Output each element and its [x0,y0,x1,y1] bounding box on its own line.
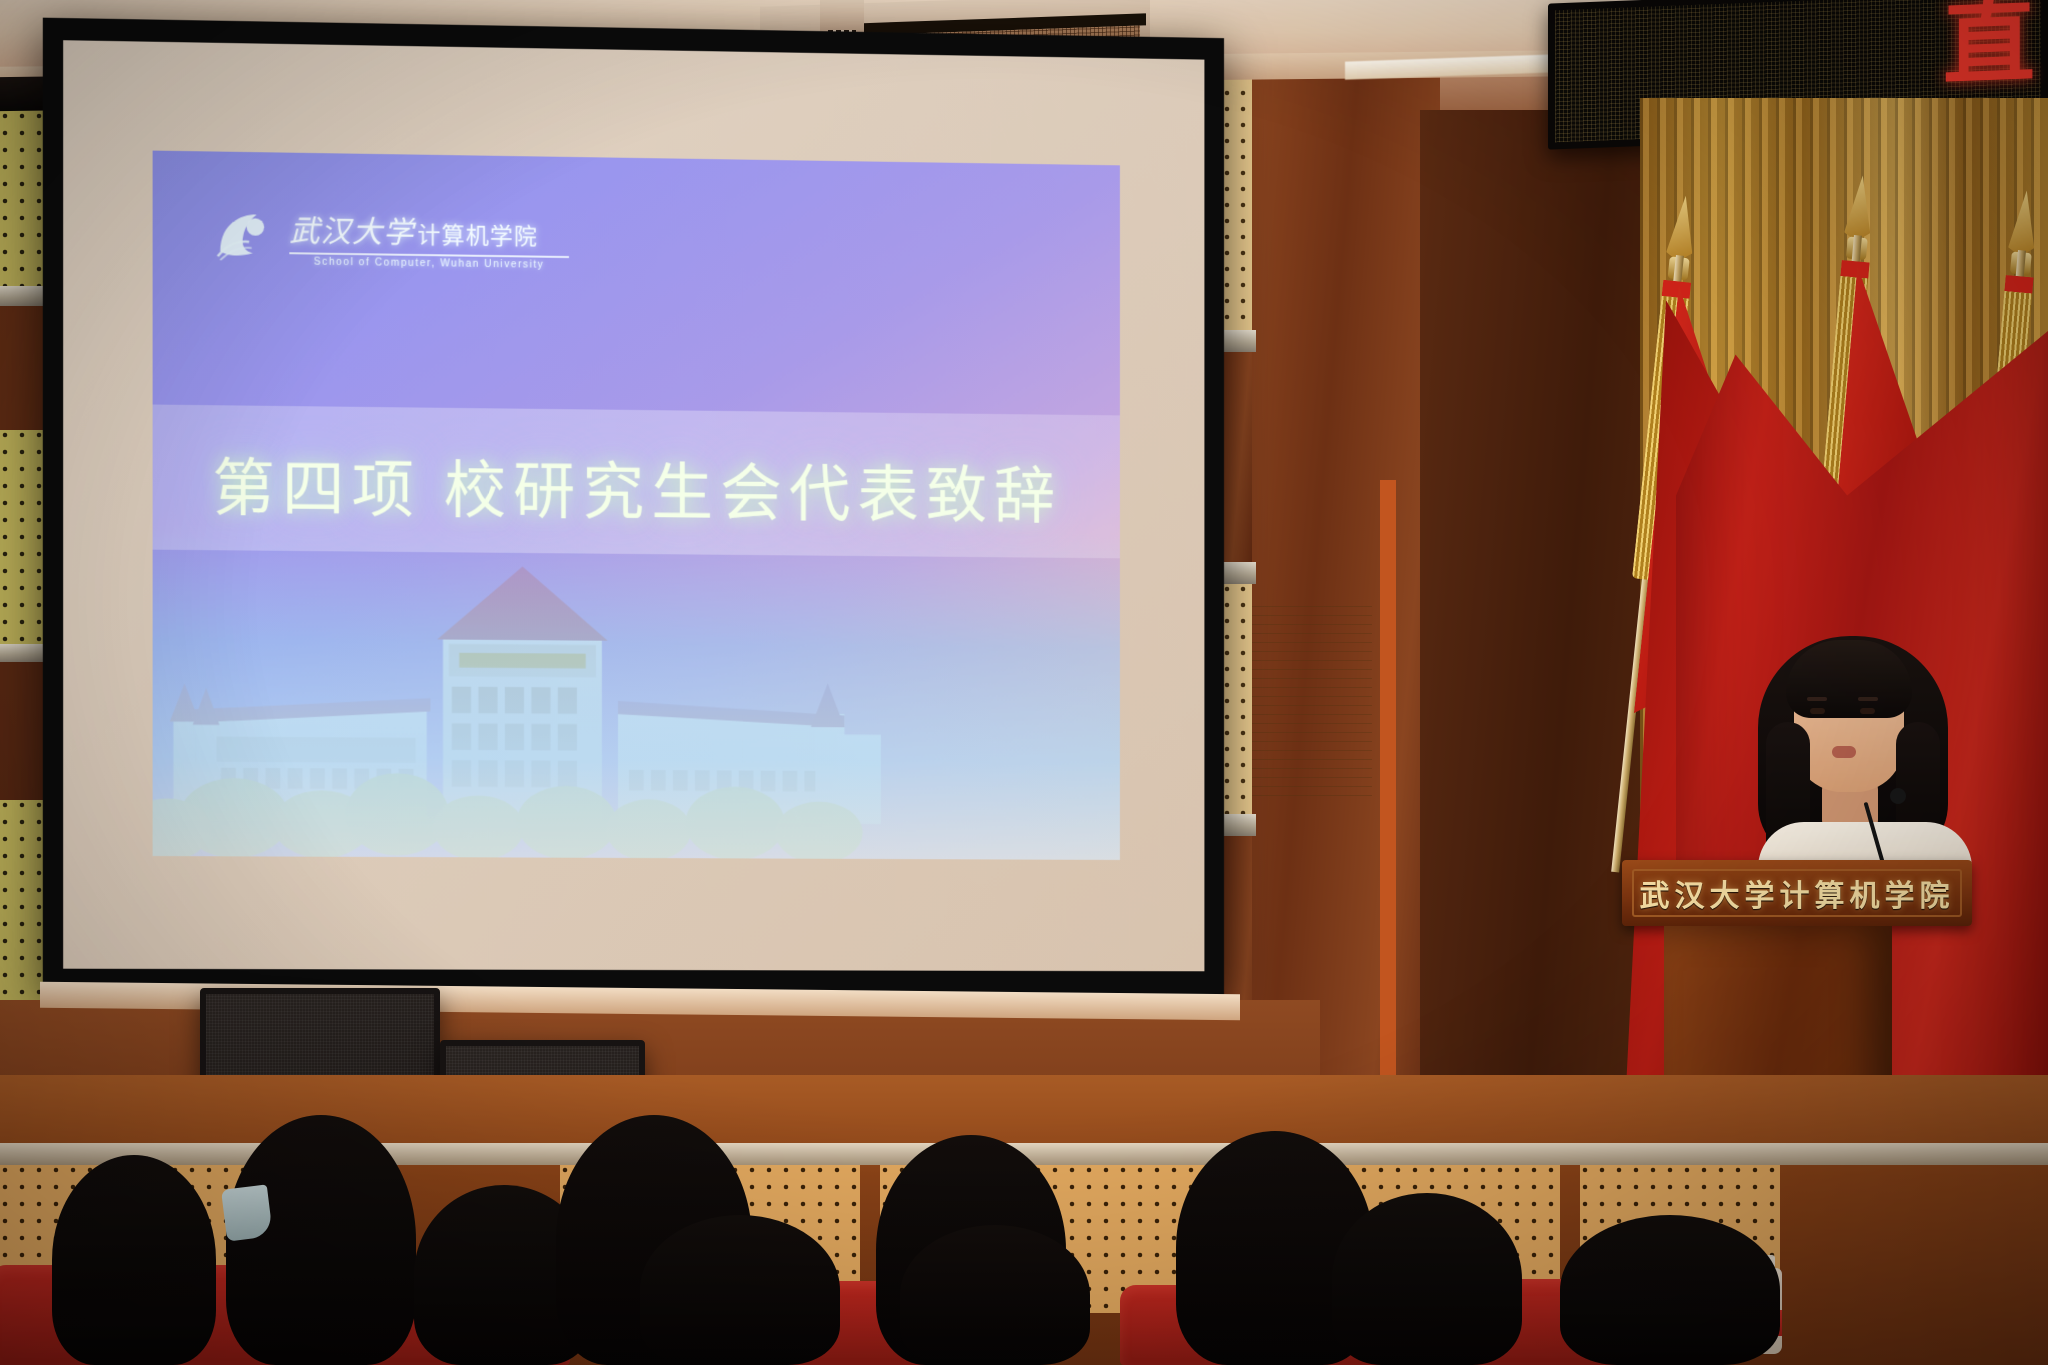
logo-text-block: 武汉大学 计算机学院 School of Computer, Wuhan Uni… [289,205,569,270]
presentation-slide: 武汉大学 计算机学院 School of Computer, Wuhan Uni… [153,151,1120,860]
speaker-eye-right [1860,708,1875,714]
audience-head-1 [52,1155,216,1365]
screen-surface: 武汉大学 计算机学院 School of Computer, Wuhan Uni… [63,40,1204,971]
audience-head-10 [1560,1215,1780,1365]
acoustic-panel-horizontal [1252,600,1372,796]
slide-logo: 武汉大学 计算机学院 School of Computer, Wuhan Uni… [216,204,569,270]
logo-chinese-name: 武汉大学 计算机学院 [289,205,569,253]
audience-hair [226,1115,416,1365]
microphone-icon [1890,788,1906,804]
audience-head-2 [226,1115,416,1365]
podium-top: 武汉大学计算机学院 [1622,860,1972,926]
slide-sky-overlay [153,524,1120,859]
door-frame [1380,480,1396,1170]
auditorium-scene: 直 [0,0,2048,1365]
speaker-mouth [1832,746,1856,758]
audience-hair [1560,1215,1780,1365]
speaker-eyebrow-left [1807,697,1827,701]
logo-english-name: School of Computer, Wuhan University [289,256,569,271]
audience-hair [52,1155,216,1365]
wave-logo-icon [216,210,279,261]
audience-hair [900,1225,1090,1365]
podium-nameplate-text: 武汉大学计算机学院 [1640,871,1955,915]
slide-title: 第四项 校研究生会代表致辞 [153,436,1120,536]
logo-university-name: 武汉大学 [289,205,414,251]
audience-hair [1332,1193,1522,1365]
logo-school-name: 计算机学院 [417,215,538,251]
projection-screen: 武汉大学 计算机学院 School of Computer, Wuhan Uni… [43,18,1224,997]
speaker-hair-front [1786,640,1912,718]
podium-nameplate: 武汉大学计算机学院 [1632,869,1962,917]
speaker-person [1748,626,1978,876]
audience-head-9 [1332,1193,1522,1365]
speaker-eyebrow-right [1858,697,1878,701]
audience-hair [640,1215,840,1365]
speaker-eye-left [1810,708,1825,714]
audience-head-5 [640,1215,840,1365]
audience-head-7 [900,1225,1090,1365]
led-sign-glyph: 直 [1943,0,2035,91]
